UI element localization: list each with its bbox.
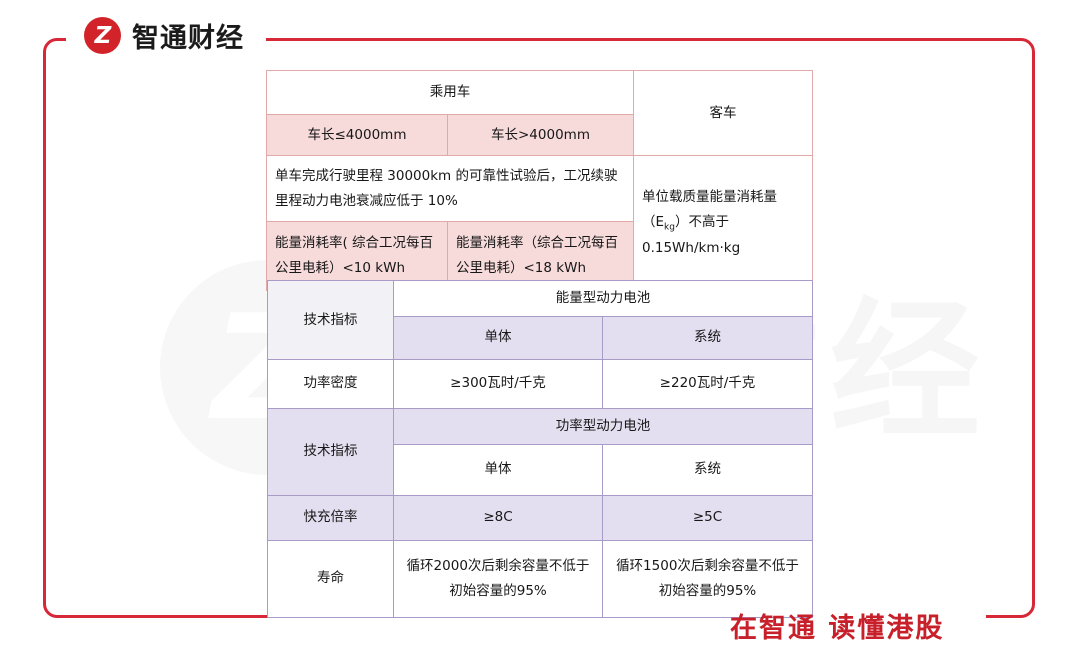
bus-line-2: （Ekg）不高于 bbox=[642, 210, 804, 236]
bus-line-2-suffix: ）不高于 bbox=[675, 214, 729, 230]
battery-indicators-table: 技术指标 能量型动力电池 单体 系统 功率密度 ≥300瓦时/千克 ≥220瓦时… bbox=[267, 280, 813, 618]
fast-charge-rate-system: ≥5C bbox=[603, 495, 813, 540]
energy-metric-label: 技术指标 bbox=[268, 281, 394, 360]
power-density-system-value: ≥220瓦时/千克 bbox=[603, 359, 813, 408]
life-cell-line-1: 循环2000次后剩余容量不低于 bbox=[402, 554, 594, 579]
consumption-long-line-1: 能量消耗率（综合工况每百 bbox=[456, 231, 625, 256]
reliability-requirement-cell: 单车完成行驶里程 30000km 的可靠性试验后，工况续驶 里程动力电池衰减应低… bbox=[267, 156, 634, 222]
subheader-length-short: 车长≤4000mm bbox=[267, 115, 448, 156]
power-density-cell-value: ≥300瓦时/千克 bbox=[394, 359, 603, 408]
energy-col-system: 系统 bbox=[603, 316, 813, 359]
bus-line-1: 单位载质量能量消耗量 bbox=[642, 185, 804, 210]
consumption-short-line-1: 能量消耗率( 综合工况每百 bbox=[275, 231, 439, 256]
bus-line-3: 0.15Wh/km·kg bbox=[642, 236, 804, 261]
reliability-line-2: 里程动力电池衰减应低于 10% bbox=[275, 189, 625, 214]
brand-name: 智通财经 bbox=[132, 16, 244, 55]
consumption-long-line-2: 公里电耗）<18 kWh bbox=[456, 256, 625, 281]
consumption-short-line-2: 公里电耗）<10 kWh bbox=[275, 256, 439, 281]
table-row: 快充倍率 ≥8C ≥5C bbox=[268, 495, 813, 540]
power-type-label: 功率型动力电池 bbox=[394, 408, 813, 444]
life-label: 寿命 bbox=[268, 540, 394, 617]
power-col-system: 系统 bbox=[603, 444, 813, 495]
brand-logo-icon: Z bbox=[84, 17, 121, 54]
brand-header: Z 智通财经 bbox=[84, 16, 244, 55]
bus-line-2-subscript: kg bbox=[664, 223, 675, 233]
table-row: 技术指标 能量型动力电池 bbox=[268, 281, 813, 317]
power-density-label: 功率密度 bbox=[268, 359, 394, 408]
table-row: 技术指标 功率型动力电池 bbox=[268, 408, 813, 444]
table-row: 乘用车 客车 bbox=[267, 71, 813, 115]
table-row: 功率密度 ≥300瓦时/千克 ≥220瓦时/千克 bbox=[268, 359, 813, 408]
energy-col-cell: 单体 bbox=[394, 316, 603, 359]
subheader-length-long: 车长>4000mm bbox=[448, 115, 634, 156]
power-col-cell: 单体 bbox=[394, 444, 603, 495]
life-cell-value: 循环2000次后剩余容量不低于 初始容量的95% bbox=[394, 540, 603, 617]
reliability-line-1: 单车完成行驶里程 30000km 的可靠性试验后，工况续驶 bbox=[275, 164, 625, 189]
header-passenger-vehicle: 乘用车 bbox=[267, 71, 634, 115]
power-metric-label: 技术指标 bbox=[268, 408, 394, 495]
footer-slogan: 在智通 读懂港股 bbox=[730, 606, 944, 645]
bus-line-2-prefix: （E bbox=[642, 214, 664, 230]
vehicle-requirements-table: 乘用车 客车 车长≤4000mm 车长>4000mm 单车完成行驶里程 3000… bbox=[266, 70, 813, 291]
header-bus: 客车 bbox=[634, 71, 813, 156]
bus-energy-consumption-cell: 单位载质量能量消耗量 （Ekg）不高于 0.15Wh/km·kg bbox=[634, 156, 813, 291]
table-row: 单车完成行驶里程 30000km 的可靠性试验后，工况续驶 里程动力电池衰减应低… bbox=[267, 156, 813, 222]
life-system-line-1: 循环1500次后剩余容量不低于 bbox=[611, 554, 804, 579]
life-cell-line-2: 初始容量的95% bbox=[402, 579, 594, 604]
fast-charge-rate-cell: ≥8C bbox=[394, 495, 603, 540]
fast-charge-rate-label: 快充倍率 bbox=[268, 495, 394, 540]
energy-type-label: 能量型动力电池 bbox=[394, 281, 813, 317]
life-system-line-2: 初始容量的95% bbox=[611, 579, 804, 604]
